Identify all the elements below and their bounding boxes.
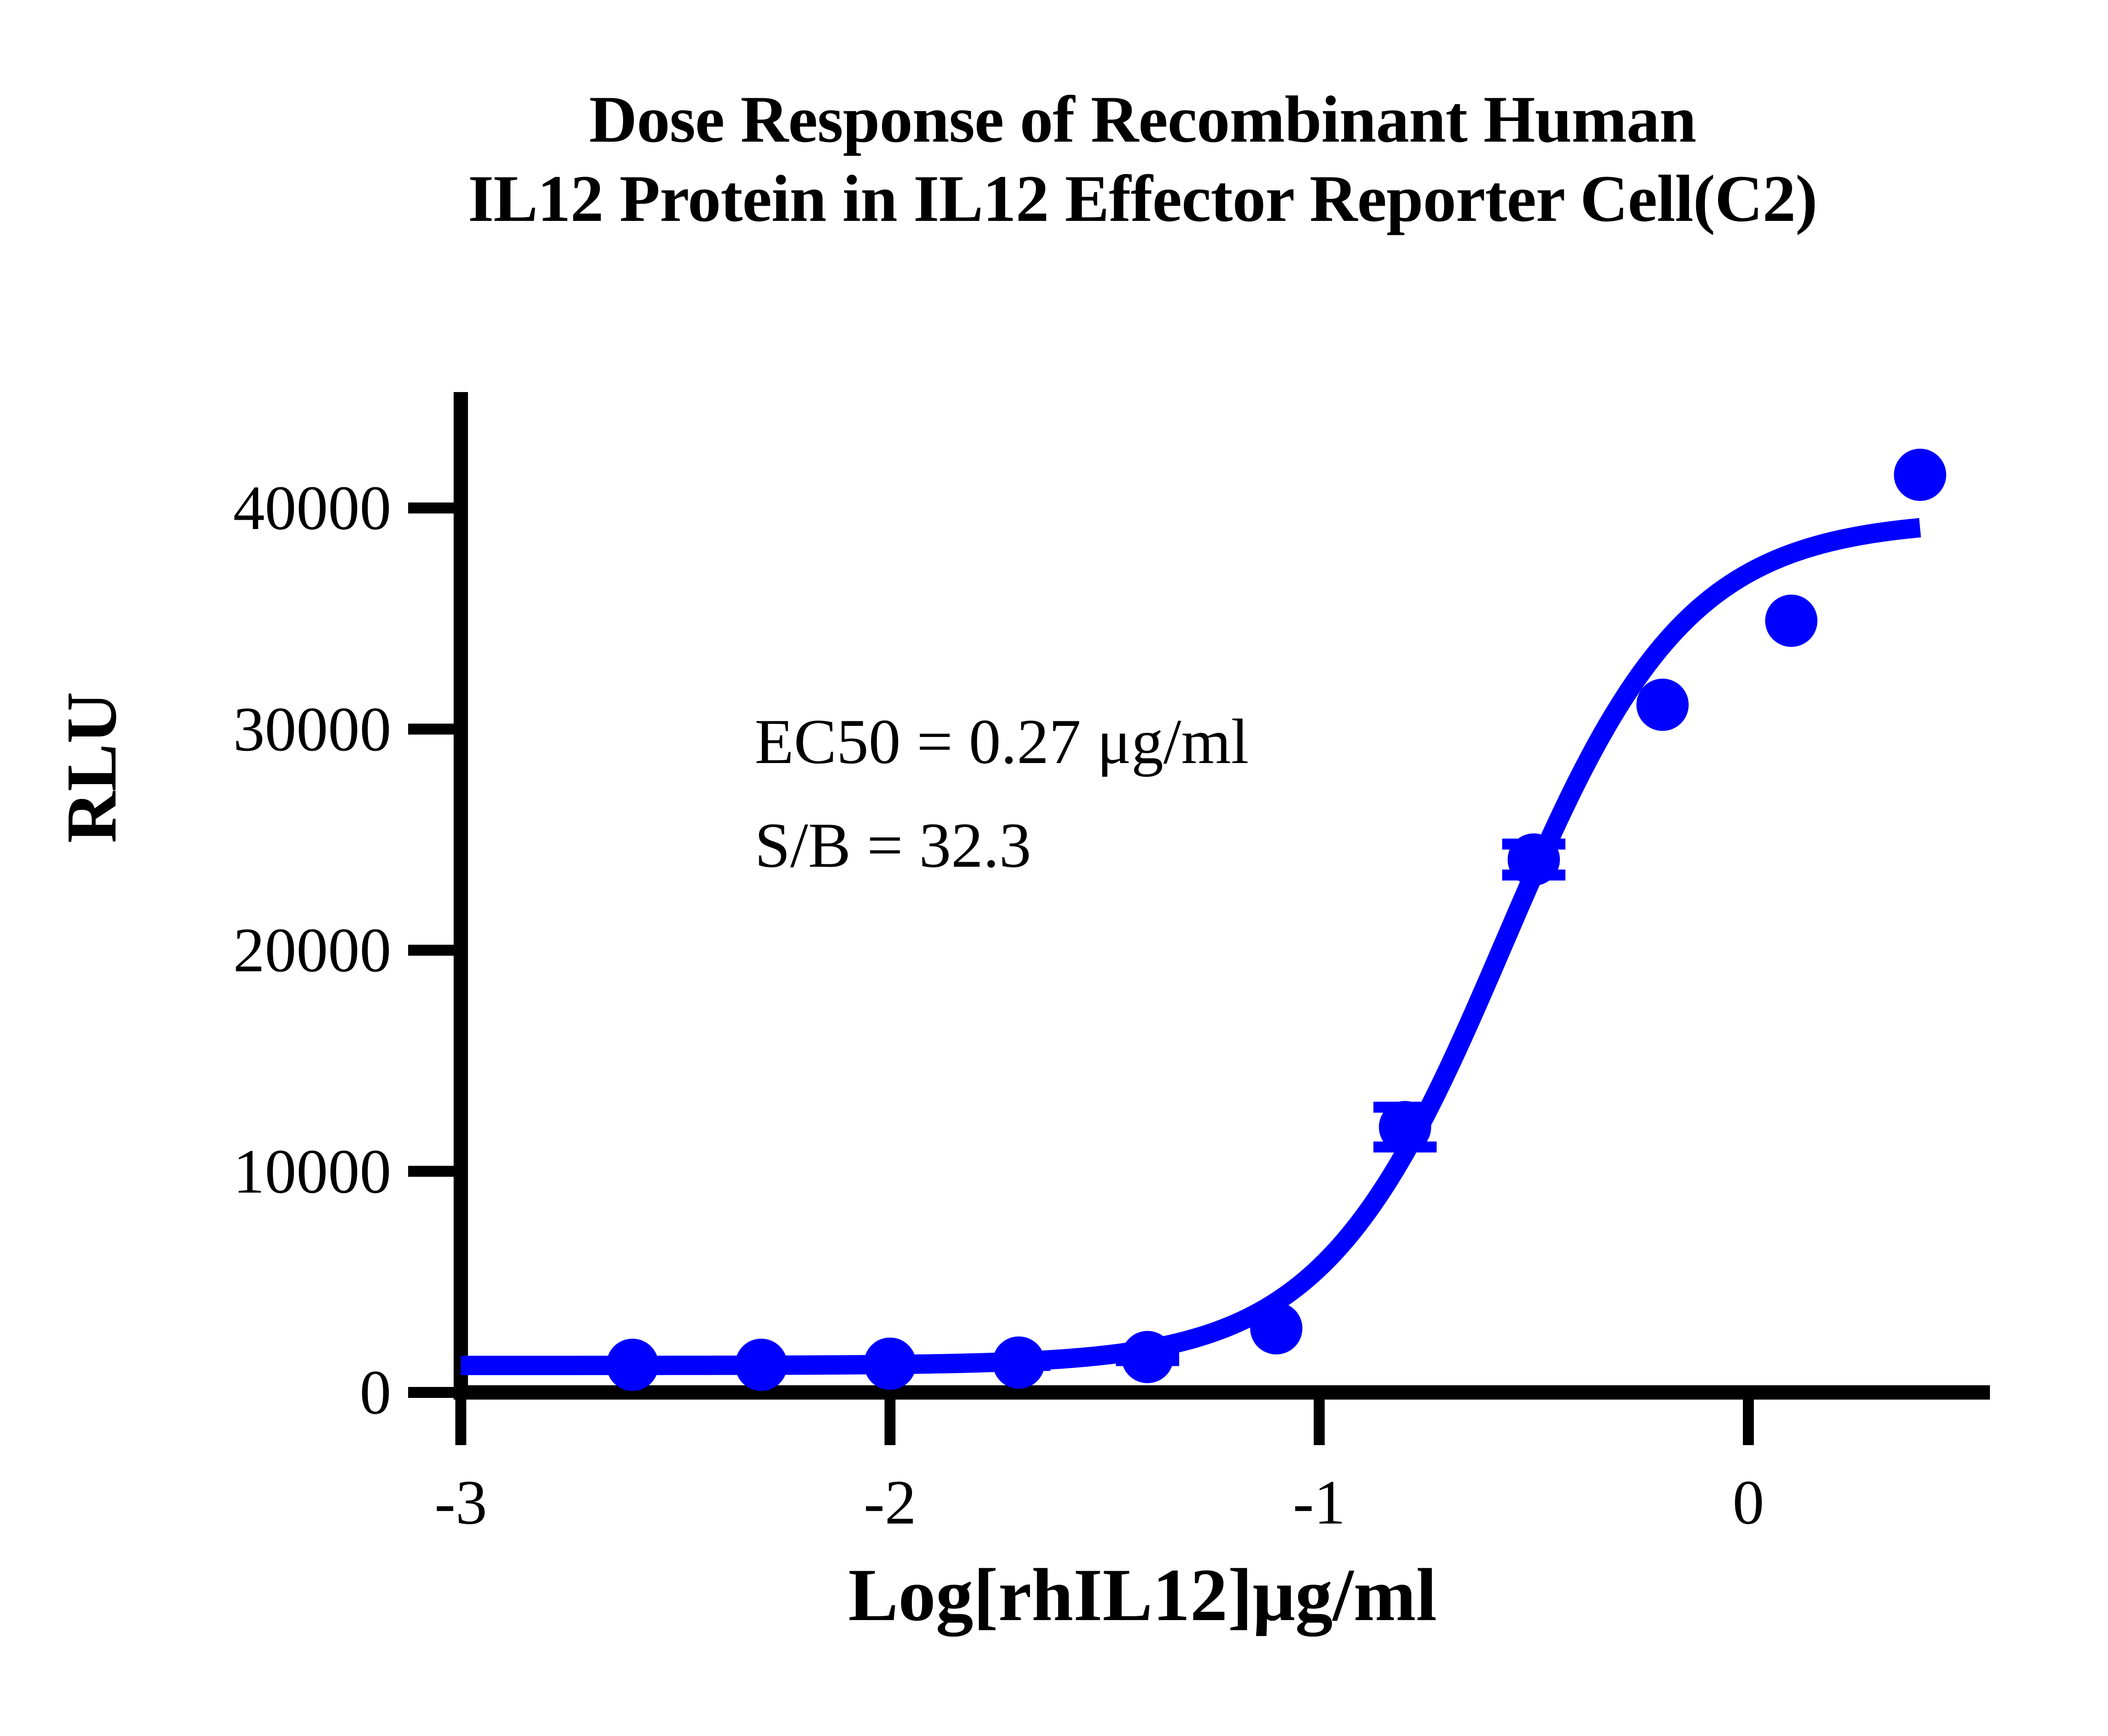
y-tick-3 <box>408 724 454 735</box>
y-tick-0 <box>408 1387 454 1398</box>
y-tick-4 <box>408 503 454 513</box>
x-axis-title: Log[rhIL12]μg/ml <box>0 1551 2108 1638</box>
data-point[interactable] <box>606 1338 659 1391</box>
x-axis-line <box>454 1385 1990 1400</box>
chart-figure: Dose Response of Recombinant Human IL12 … <box>0 0 2108 1736</box>
data-point[interactable] <box>1508 833 1560 886</box>
data-point[interactable] <box>992 1336 1045 1389</box>
x-tick-0 <box>455 1400 466 1445</box>
x-tick-label-0: -3 <box>435 1466 487 1539</box>
y-tick-2 <box>408 945 454 956</box>
y-axis-line <box>454 392 468 1400</box>
annotation-ec50: EC50 = 0.27 μg/ml <box>755 705 1249 778</box>
y-axis-title: RLU <box>51 692 133 843</box>
x-tick-label-2: -1 <box>1293 1466 1346 1539</box>
fit-curve-group <box>461 528 1920 1365</box>
data-point[interactable] <box>1765 594 1818 647</box>
data-point[interactable] <box>864 1338 916 1390</box>
x-tick-3 <box>1743 1400 1754 1445</box>
y-tick-label-2: 20000 <box>233 914 391 986</box>
data-points-group <box>606 449 1946 1391</box>
y-tick-label-3: 30000 <box>233 693 391 766</box>
data-point[interactable] <box>1250 1302 1302 1354</box>
x-tick-1 <box>885 1400 895 1445</box>
fit-curve <box>461 528 1920 1365</box>
data-point[interactable] <box>735 1338 788 1391</box>
axes-group <box>408 392 1990 1445</box>
data-point[interactable] <box>1121 1331 1174 1383</box>
x-tick-label-3: 0 <box>1733 1466 1764 1539</box>
data-point[interactable] <box>1379 1101 1431 1153</box>
error-bars-group <box>601 838 1565 1373</box>
annotation-signal-to-background: S/B = 32.3 <box>755 809 1031 882</box>
y-tick-label-1: 10000 <box>233 1135 391 1208</box>
data-point[interactable] <box>1636 679 1689 731</box>
y-tick-label-0: 0 <box>360 1356 391 1429</box>
plot-area <box>0 0 2108 1736</box>
x-tick-label-1: -2 <box>864 1466 917 1539</box>
y-tick-1 <box>408 1166 454 1177</box>
y-tick-label-4: 40000 <box>233 472 391 544</box>
x-tick-2 <box>1314 1400 1325 1445</box>
data-point[interactable] <box>1894 449 1946 501</box>
